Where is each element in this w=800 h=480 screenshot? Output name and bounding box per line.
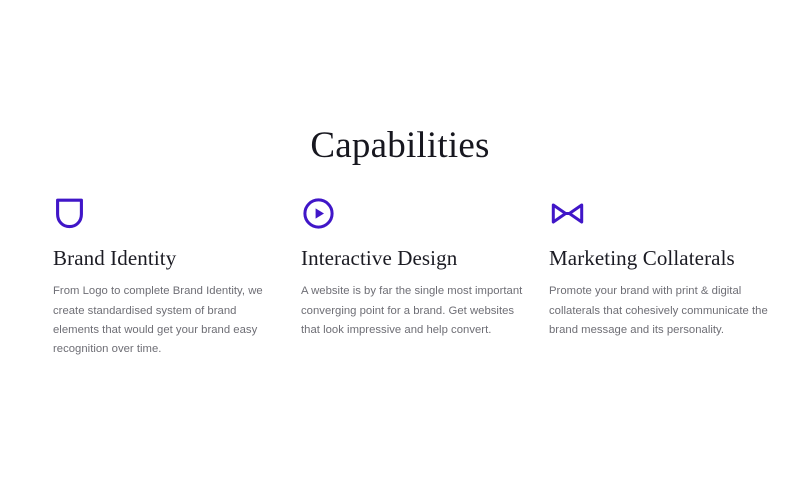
play-circle-icon [303,196,523,230]
capability-card-interactive-design: Interactive Design A website is by far t… [301,196,549,340]
shield-icon [55,196,275,230]
capabilities-section: Capabilities Brand Identity From Logo to… [0,0,800,480]
card-description: A website is by far the single most impo… [301,282,525,340]
card-title: Interactive Design [301,246,523,270]
card-title: Brand Identity [53,246,275,270]
bowtie-icon [551,196,771,230]
capability-card-marketing-collaterals: Marketing Collaterals Promote your brand… [549,196,797,340]
page-title: Capabilities [0,126,800,167]
capability-card-brand-identity: Brand Identity From Logo to complete Bra… [53,196,301,360]
card-title: Marketing Collaterals [549,246,771,270]
capability-cards-row: Brand Identity From Logo to complete Bra… [53,196,767,360]
card-description: Promote your brand with print & digital … [549,282,773,340]
card-description: From Logo to complete Brand Identity, we… [53,282,273,360]
